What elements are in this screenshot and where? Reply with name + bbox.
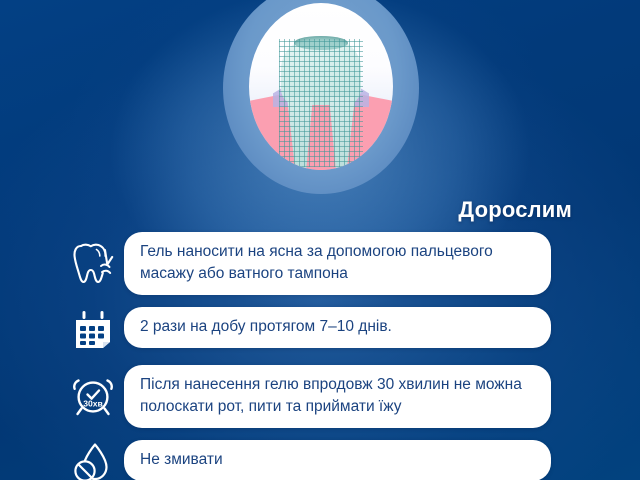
tooth-root-right [329, 97, 355, 169]
instruction-row: Гель наносити на ясна за допомогою пальц… [0, 232, 640, 295]
hero-illustration [223, 0, 419, 194]
hero-inner-disc [249, 3, 393, 170]
alarm-clock-label: 30хв [83, 399, 103, 409]
tooth-check-icon [62, 232, 124, 294]
tooth-crown [281, 39, 361, 105]
poster-canvas: Дорослим Гель наносити на ясна за допомо… [0, 0, 640, 480]
instruction-card: Після нанесення гелю впродовж 30 хвилин … [124, 365, 551, 428]
instruction-list: Гель наносити на ясна за допомогою пальц… [0, 232, 640, 480]
tooth-model [279, 39, 363, 167]
instruction-card: Гель наносити на ясна за допомогою пальц… [124, 232, 551, 295]
instruction-row: Не змивати [0, 440, 640, 480]
audience-heading: Дорослим [458, 197, 572, 223]
calendar-icon [62, 307, 124, 353]
instruction-card: Не змивати [124, 440, 551, 480]
no-water-drop-icon [62, 440, 124, 480]
instruction-row: 2 рази на добу протягом 7–10 днів. [0, 307, 640, 353]
tooth-root-left [287, 97, 313, 169]
instruction-card: 2 рази на добу протягом 7–10 днів. [124, 307, 551, 348]
instruction-row: 30хв Після нанесення гелю впродовж 30 хв… [0, 365, 640, 428]
alarm-clock-icon: 30хв [62, 365, 124, 427]
